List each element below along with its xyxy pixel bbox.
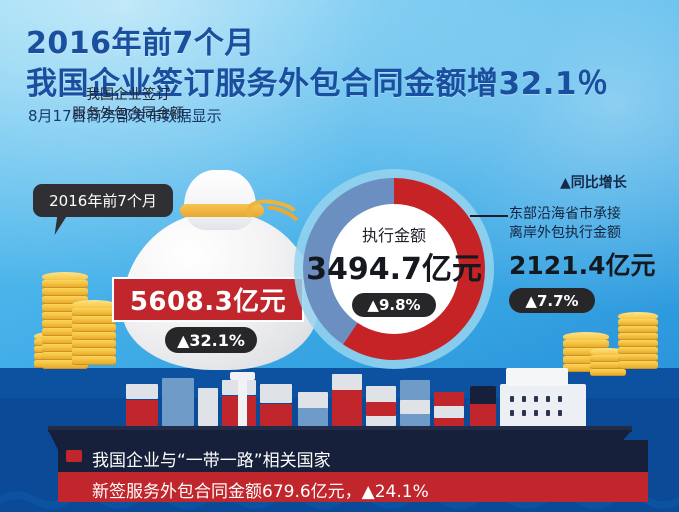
legend-growth-marker: ▲同比增长	[560, 172, 627, 192]
bridge-window	[534, 410, 538, 416]
bridge-window	[522, 410, 526, 416]
container-box	[162, 378, 194, 426]
bottom-banner-line-red: 新签服务外包合同金额679.6亿元，▲24.1%	[92, 477, 429, 502]
container-box	[126, 400, 158, 426]
container-box	[260, 384, 292, 403]
container-box	[298, 408, 328, 426]
container-box	[366, 402, 396, 416]
container-box	[260, 404, 292, 426]
bridge-window	[534, 396, 538, 402]
coastal-annotation-block: 东部沿海省市承接 离岸外包执行金额 2121.4亿元 ▲7.7%	[509, 205, 677, 313]
headline-line-1: 2016年前7个月	[26, 26, 666, 62]
bridge-window	[546, 396, 550, 402]
container-box	[198, 388, 218, 426]
bridge-window	[522, 396, 526, 402]
infographic-canvas: 2016年前7个月 我国企业签订服务外包合同金额增32.1％ 8月17日商务部发…	[0, 0, 679, 512]
coin-stack-right-tall	[618, 312, 658, 372]
ship-mast-cap	[230, 372, 255, 380]
money-bag-value: 5608.3亿元	[130, 281, 286, 318]
container-box	[434, 406, 464, 418]
donut-leader-line	[470, 215, 508, 217]
donut-label: 执行金额	[362, 222, 426, 246]
money-bag-caption: 我国企业签订 服务外包合同金额	[44, 86, 212, 124]
bottom-banner-line-dark: 我国企业与“一带一路”相关国家	[92, 446, 331, 471]
period-speech-bubble: 2016年前7个月	[33, 184, 173, 217]
donut-center-content: 执行金额 3494.7亿元 ▲9.8%	[303, 178, 485, 360]
bridge-window	[546, 410, 550, 416]
period-speech-bubble-label: 2016年前7个月	[49, 190, 157, 211]
coastal-growth-badge: ▲7.7%	[509, 288, 595, 313]
bridge-window	[510, 396, 514, 402]
bridge-window	[510, 410, 514, 416]
coastal-annotation-line-1: 东部沿海省市承接	[509, 205, 677, 224]
bridge-window	[558, 396, 562, 402]
ship-funnel-cap	[470, 386, 496, 404]
money-bag-neck	[184, 170, 256, 230]
container-box	[332, 374, 362, 390]
speech-bubble-tail	[55, 215, 68, 235]
container-box	[126, 384, 158, 399]
ship-mast	[238, 376, 247, 432]
container-box	[400, 400, 430, 414]
banner-bullet-icon	[66, 450, 82, 462]
money-bag-growth-badge: ▲32.1%	[165, 327, 257, 353]
money-bag-caption-line-1: 我国企业签订	[44, 86, 212, 105]
coin-stack-left-mid	[72, 300, 116, 370]
ship-bridge	[500, 384, 586, 432]
donut-value: 3494.7亿元	[306, 244, 482, 288]
money-bag-value-banner: 5608.3亿元	[112, 277, 304, 322]
money-bag-caption-line-2: 服务外包合同金额	[44, 105, 212, 124]
ship-bridge-top	[506, 368, 568, 386]
coastal-annotation-line-2: 离岸外包执行金额	[509, 224, 677, 243]
bridge-window	[558, 410, 562, 416]
donut-growth-badge: ▲9.8%	[352, 293, 436, 317]
coastal-annotation-value: 2121.4亿元	[509, 246, 677, 282]
